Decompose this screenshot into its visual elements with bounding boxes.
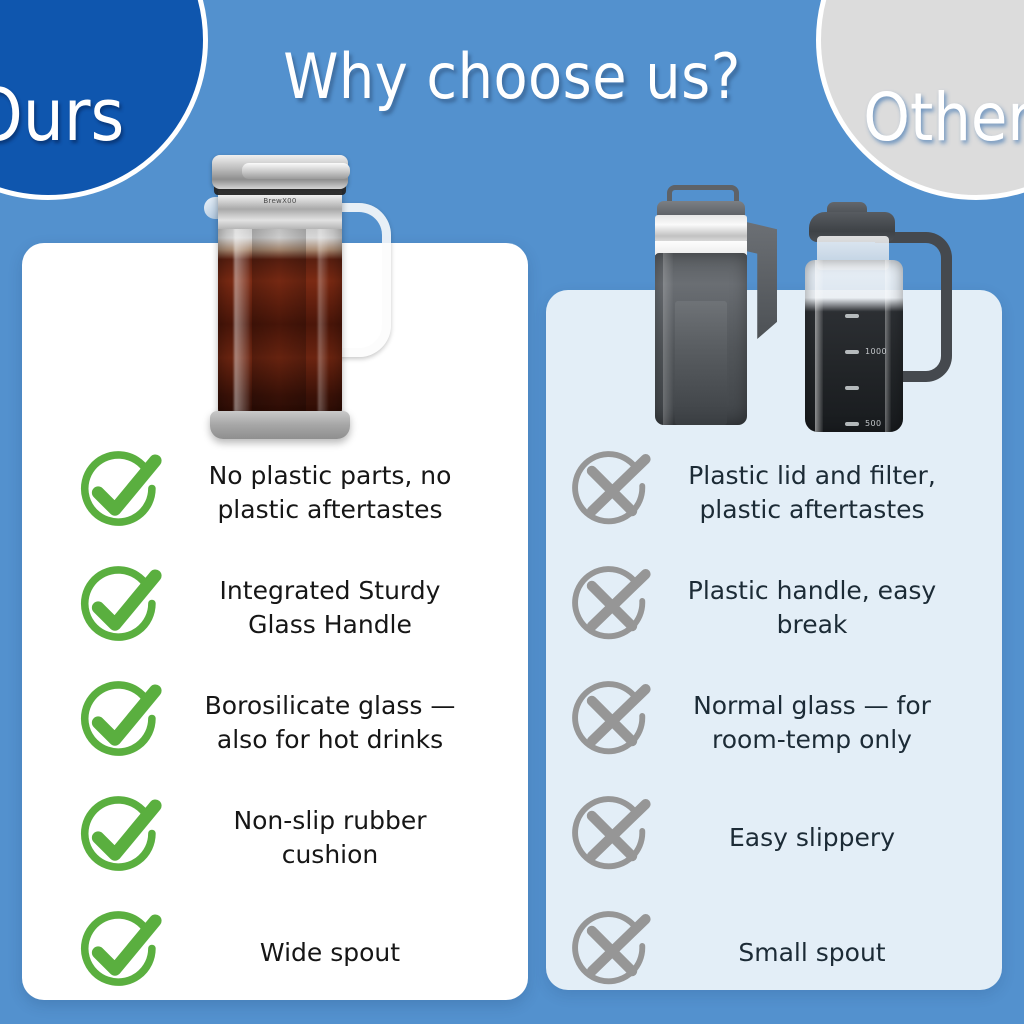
feature-row: Plastic handle, easy break	[570, 563, 970, 653]
feature-row: Easy slippery	[570, 793, 970, 883]
check-icon	[78, 679, 162, 767]
steel-lid	[212, 155, 348, 189]
check-icon	[78, 564, 162, 648]
badge-ours-label: Ours	[0, 79, 203, 151]
cross-icon	[570, 679, 654, 763]
body-glare-b	[815, 260, 823, 432]
volume-tick	[845, 350, 859, 354]
feature-text: Normal glass — for room-temp only	[654, 689, 970, 757]
check-icon	[78, 679, 162, 763]
infographic-canvas: Why choose us? Ours Others BrewX00 1500 …	[0, 0, 1024, 1024]
volume-label: 1000	[865, 347, 887, 356]
volume-tick	[845, 314, 859, 318]
feature-row: No plastic parts, no plastic aftertastes	[78, 448, 498, 538]
feature-row: Plastic lid and filter, plastic aftertas…	[570, 448, 970, 538]
cross-icon	[570, 449, 654, 533]
feature-row: Integrated Sturdy Glass Handle	[78, 563, 498, 653]
cross-icon	[570, 794, 654, 882]
brand-label: BrewX00	[218, 197, 342, 205]
feature-row: Borosilicate glass — also for hot drinks	[78, 678, 498, 768]
check-icon	[78, 909, 162, 993]
check-icon	[78, 449, 162, 533]
feature-row: Small spout	[570, 908, 970, 998]
check-icon	[78, 449, 162, 537]
product-image-other-b: 1000500ML	[793, 198, 943, 438]
check-icon	[78, 794, 162, 882]
feature-row: Non-slip rubber cushion	[78, 793, 498, 883]
feature-text: No plastic parts, no plastic aftertastes	[162, 459, 498, 527]
check-icon	[78, 564, 162, 652]
product-image-ours: BrewX00 1500 ml 1 cup = 8 oz BrewX00	[196, 139, 386, 444]
cross-icon	[570, 794, 654, 878]
feature-text: Easy slippery	[654, 821, 970, 855]
plastic-filter-a	[675, 301, 727, 425]
badge-others: Others	[816, 0, 1024, 200]
lid-cap	[242, 163, 350, 179]
volume-tick	[845, 422, 859, 426]
rubber-cushion-base	[210, 411, 350, 439]
body-glare-a	[663, 253, 673, 425]
feature-text: Plastic lid and filter, plastic aftertas…	[654, 459, 970, 527]
badge-ours: Ours	[0, 0, 208, 200]
check-icon	[78, 794, 162, 878]
glass-body-b: 1000500ML	[805, 260, 903, 432]
feature-text: Small spout	[654, 936, 970, 970]
badge-others-label: Others	[821, 85, 1024, 151]
cross-icon	[570, 909, 654, 993]
cross-icon	[570, 564, 654, 652]
feature-text: Non-slip rubber cushion	[162, 804, 498, 872]
feature-text: Integrated Sturdy Glass Handle	[162, 574, 498, 642]
feature-text: Borosilicate glass — also for hot drinks	[162, 689, 498, 757]
body-glare-b-secondary	[885, 260, 891, 432]
volume-label: 500	[865, 419, 881, 428]
cross-icon	[570, 449, 654, 537]
feature-row: Wide spout	[78, 908, 498, 998]
steel-band-a	[655, 215, 747, 243]
volume-tick	[845, 386, 859, 390]
check-icon	[78, 909, 162, 997]
cross-icon	[570, 564, 654, 648]
cross-icon	[570, 909, 654, 997]
feature-text: Plastic handle, easy break	[654, 574, 970, 642]
smoke-body-a	[655, 253, 747, 425]
feature-row: Normal glass — for room-temp only	[570, 678, 970, 768]
product-image-other-a	[643, 185, 783, 433]
cross-icon	[570, 679, 654, 767]
feature-text: Wide spout	[162, 936, 498, 970]
